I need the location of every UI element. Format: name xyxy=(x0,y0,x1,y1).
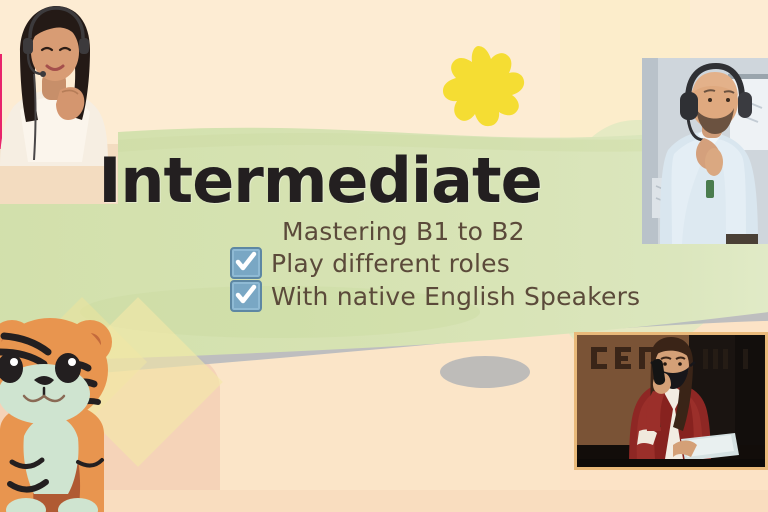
lead-line-text: Mastering B1 to B2 xyxy=(282,217,525,246)
list-item-label: With native English Speakers xyxy=(271,282,640,311)
page-title: Intermediate xyxy=(0,148,640,213)
list-item: Play different roles xyxy=(0,247,640,279)
headline-group: Intermediate Mastering B1 to B2 Play dif… xyxy=(0,148,640,312)
checkbox-checked-icon[interactable] xyxy=(230,280,262,312)
slide-canvas: Intermediate Mastering B1 to B2 Play dif… xyxy=(0,0,768,512)
list-item: With native English Speakers xyxy=(0,280,640,312)
feature-list: Mastering B1 to B2 Play different roles … xyxy=(0,217,640,312)
tiger-mascot-icon xyxy=(0,312,172,512)
list-item-label: Play different roles xyxy=(271,249,510,278)
checkbox-checked-icon[interactable] xyxy=(230,247,262,279)
photo-man-headphones xyxy=(642,58,768,244)
photo-receptionist-phone xyxy=(574,332,768,470)
list-item-lead: Mastering B1 to B2 xyxy=(0,217,640,246)
